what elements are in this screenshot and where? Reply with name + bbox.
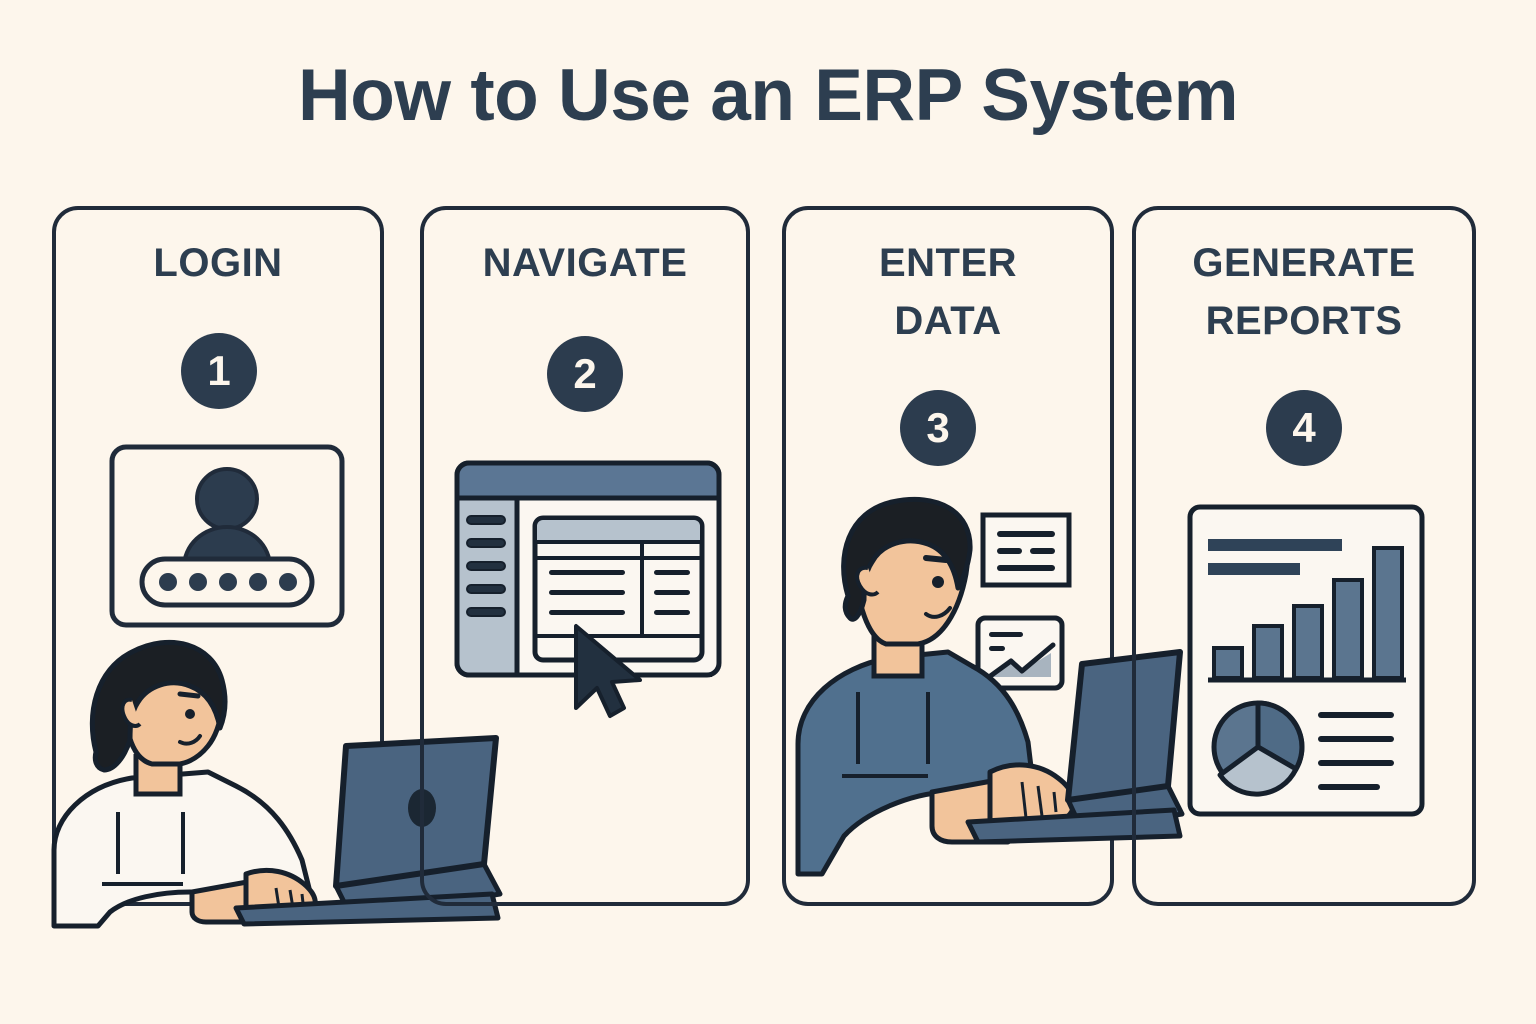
step-heading-enter-data-line2: DATA — [782, 300, 1114, 342]
step-heading-generate-reports-line2: REPORTS — [1132, 300, 1476, 342]
step-heading-enter-data-line1: ENTER — [782, 242, 1114, 284]
step-panel-navigate — [420, 206, 750, 906]
step-heading-generate-reports-line1: GENERATE — [1132, 242, 1476, 284]
step-badge-4: 4 — [1266, 390, 1342, 466]
infographic-canvas: How to Use an ERP System LOGIN 1 — [0, 0, 1536, 1024]
page-title: How to Use an ERP System — [0, 58, 1536, 135]
step-badge-2: 2 — [547, 336, 623, 412]
step-badge-1: 1 — [181, 333, 257, 409]
step-badge-3: 3 — [900, 390, 976, 466]
step-panel-login — [52, 206, 384, 906]
step-heading-navigate: NAVIGATE — [420, 242, 750, 284]
step-heading-login: LOGIN — [52, 242, 384, 284]
